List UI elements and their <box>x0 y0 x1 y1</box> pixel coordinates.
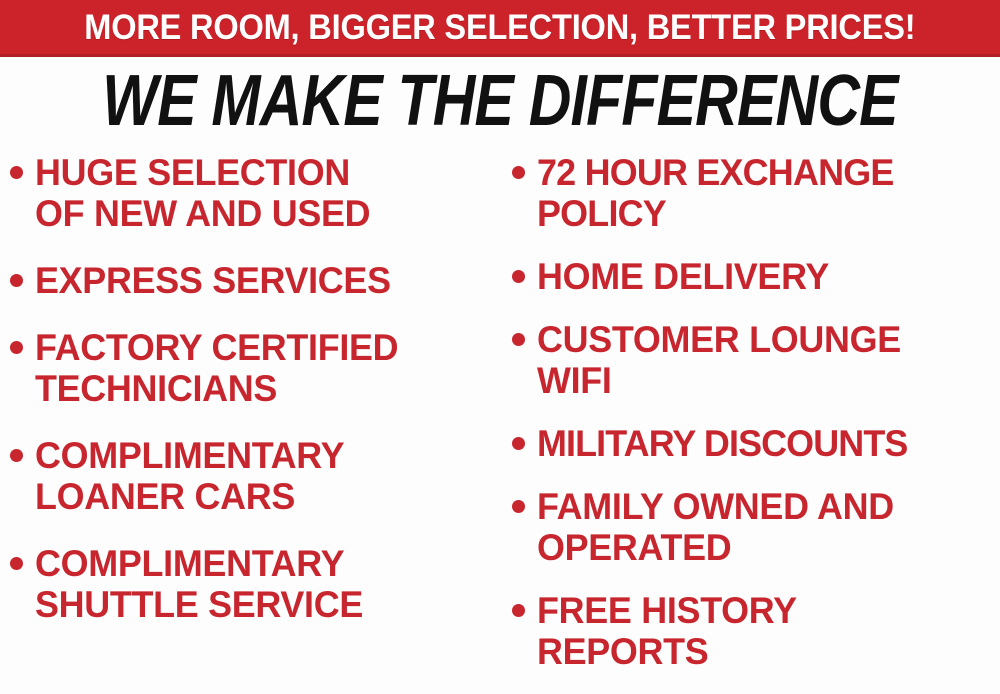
list-item: FREE HISTORY REPORTS <box>512 590 1000 672</box>
benefits-column-right: 72 HOUR EXCHANGE POLICY HOME DELIVERY CU… <box>512 152 1000 694</box>
top-banner: MORE ROOM, BIGGER SELECTION, BETTER PRIC… <box>0 0 1000 57</box>
list-item: EXPRESS SERVICES <box>10 260 505 301</box>
bullet-dot-icon <box>10 274 23 287</box>
headline-block: WE MAKE THE DIFFERENCE <box>0 62 1000 140</box>
list-item: FAMILY OWNED AND OPERATED <box>512 486 1000 568</box>
list-item: CUSTOMER LOUNGE WIFI <box>512 319 1000 401</box>
list-item: 72 HOUR EXCHANGE POLICY <box>512 152 1000 234</box>
bullet-dot-icon <box>512 270 525 283</box>
bullet-dot-icon <box>10 341 23 354</box>
banner-headline: MORE ROOM, BIGGER SELECTION, BETTER PRIC… <box>84 10 915 45</box>
list-item: HUGE SELECTION OF NEW AND USED <box>10 152 505 234</box>
bullet-dot-icon <box>10 449 23 462</box>
list-item-label: COMPLIMENTARY LOANER CARS <box>35 435 344 517</box>
list-item-label: MILITARY DISCOUNTS <box>537 423 907 464</box>
list-item: MILITARY DISCOUNTS <box>512 423 1000 464</box>
list-item: HOME DELIVERY <box>512 256 1000 297</box>
list-item: COMPLIMENTARY LOANER CARS <box>10 435 505 517</box>
bullet-dot-icon <box>512 604 525 617</box>
list-item-label: FAMILY OWNED AND OPERATED <box>537 486 894 568</box>
bullet-dot-icon <box>10 557 23 570</box>
list-item-label: HOME DELIVERY <box>537 256 829 297</box>
list-item-label: FACTORY CERTIFIED TECHNICIANS <box>35 327 398 409</box>
bullet-dot-icon <box>512 166 525 179</box>
list-item: FACTORY CERTIFIED TECHNICIANS <box>10 327 505 409</box>
list-item-label: HUGE SELECTION OF NEW AND USED <box>35 152 370 234</box>
list-item-label: CUSTOMER LOUNGE WIFI <box>537 319 901 401</box>
bullet-dot-icon <box>512 500 525 513</box>
dealership-advertisement: MORE ROOM, BIGGER SELECTION, BETTER PRIC… <box>0 0 1000 694</box>
list-item-label: 72 HOUR EXCHANGE POLICY <box>537 152 894 234</box>
list-item: COMPLIMENTARY SHUTTLE SERVICE <box>10 543 505 625</box>
bullet-dot-icon <box>512 437 525 450</box>
benefits-column-left: HUGE SELECTION OF NEW AND USED EXPRESS S… <box>10 152 505 694</box>
list-item-label: COMPLIMENTARY SHUTTLE SERVICE <box>35 543 363 625</box>
page-title: WE MAKE THE DIFFERENCE <box>102 65 897 137</box>
list-item-label: EXPRESS SERVICES <box>35 260 391 301</box>
benefits-columns: HUGE SELECTION OF NEW AND USED EXPRESS S… <box>0 152 1000 694</box>
list-item-label: FREE HISTORY REPORTS <box>537 590 797 672</box>
bullet-dot-icon <box>10 166 23 179</box>
bullet-dot-icon <box>512 333 525 346</box>
